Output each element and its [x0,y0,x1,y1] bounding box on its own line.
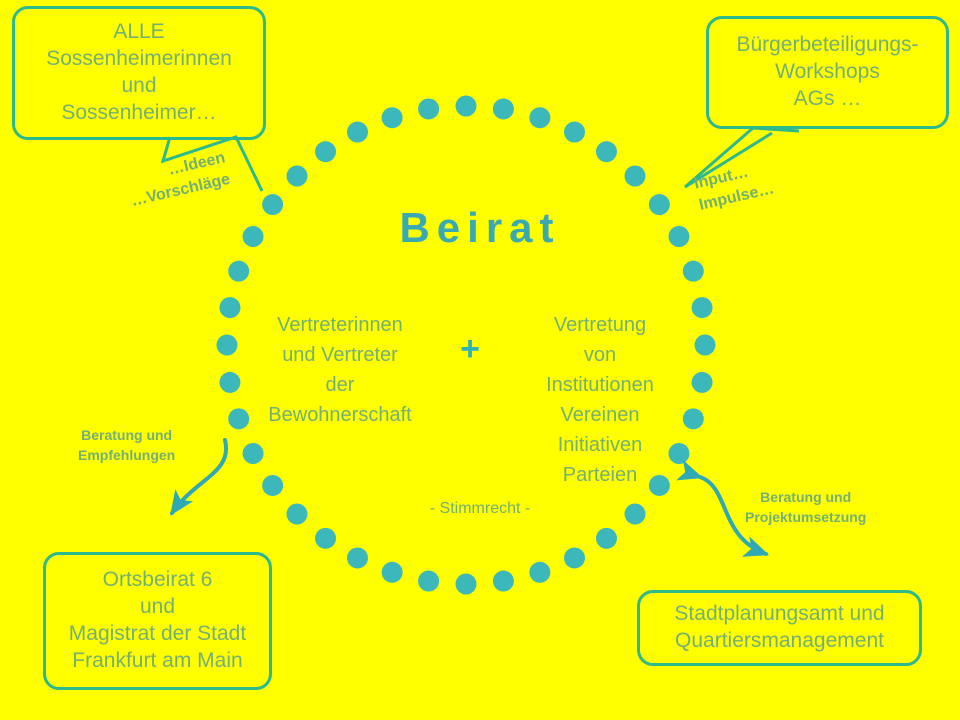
ring-dot [418,98,439,119]
ring-dot [456,96,477,117]
council-composition: Vertreterinnenund VertreterderBewohnersc… [250,310,690,490]
ring-dot [493,571,514,592]
annotation-beratung-projektumsetzung: Beratung undProjektumsetzung [745,487,866,528]
page-title: Beirat [0,204,960,252]
ring-dot [596,141,617,162]
annotation-ideen-vorschlaege: …Ideen…Vorschläge [124,147,232,212]
ring-dot [529,562,550,583]
ring-dot [695,335,716,356]
council-column-residents: Vertreterinnenund VertreterderBewohnersc… [250,310,430,430]
ring-dot [625,166,646,187]
ring-dot [228,408,249,429]
ring-dot [217,335,238,356]
box-ortsbeirat-magistrat: Ortsbeirat 6undMagistrat der StadtFrankf… [43,552,272,690]
ring-dot [219,297,240,318]
ring-dot [418,571,439,592]
annotation-beratung-empfehlungen: Beratung undEmpfehlungen [78,425,175,466]
ring-dot [347,122,368,143]
ring-dot [692,372,713,393]
ring-dot [219,372,240,393]
ring-dot [596,528,617,549]
box-stadtplanungsamt-quartiersmanagement-text: Stadtplanungsamt undQuartiersmanagement [640,601,919,655]
ring-dot [382,562,403,583]
plus-icon: + [440,330,500,369]
ring-dot [564,547,585,568]
diagram-canvas: ALLESossenheimerinnenundSossenheimer… Bü… [0,0,960,720]
council-column-institutions: VertretungvonInstitutionenVereinenInitia… [510,310,690,490]
box-stadtplanungsamt-quartiersmanagement: Stadtplanungsamt undQuartiersmanagement [637,590,922,666]
ring-dot [529,107,550,128]
ring-dot [493,98,514,119]
callout-participation-workshops: Bürgerbeteiligungs-WorkshopsAGs … [706,16,949,129]
ring-dot [456,574,477,595]
ring-dot [382,107,403,128]
ring-dot [315,141,336,162]
ring-dot [347,547,368,568]
ring-dot [228,261,249,282]
callout-participation-workshops-text: Bürgerbeteiligungs-WorkshopsAGs … [709,32,946,113]
ring-dot [692,297,713,318]
callout-all-residents: ALLESossenheimerinnenundSossenheimer… [12,6,266,140]
ring-dot [564,122,585,143]
ring-dot [683,261,704,282]
ring-dot [287,166,308,187]
callout-all-residents-text: ALLESossenheimerinnenundSossenheimer… [15,19,263,127]
box-ortsbeirat-magistrat-text: Ortsbeirat 6undMagistrat der StadtFrankf… [46,567,269,675]
ring-dot [315,528,336,549]
